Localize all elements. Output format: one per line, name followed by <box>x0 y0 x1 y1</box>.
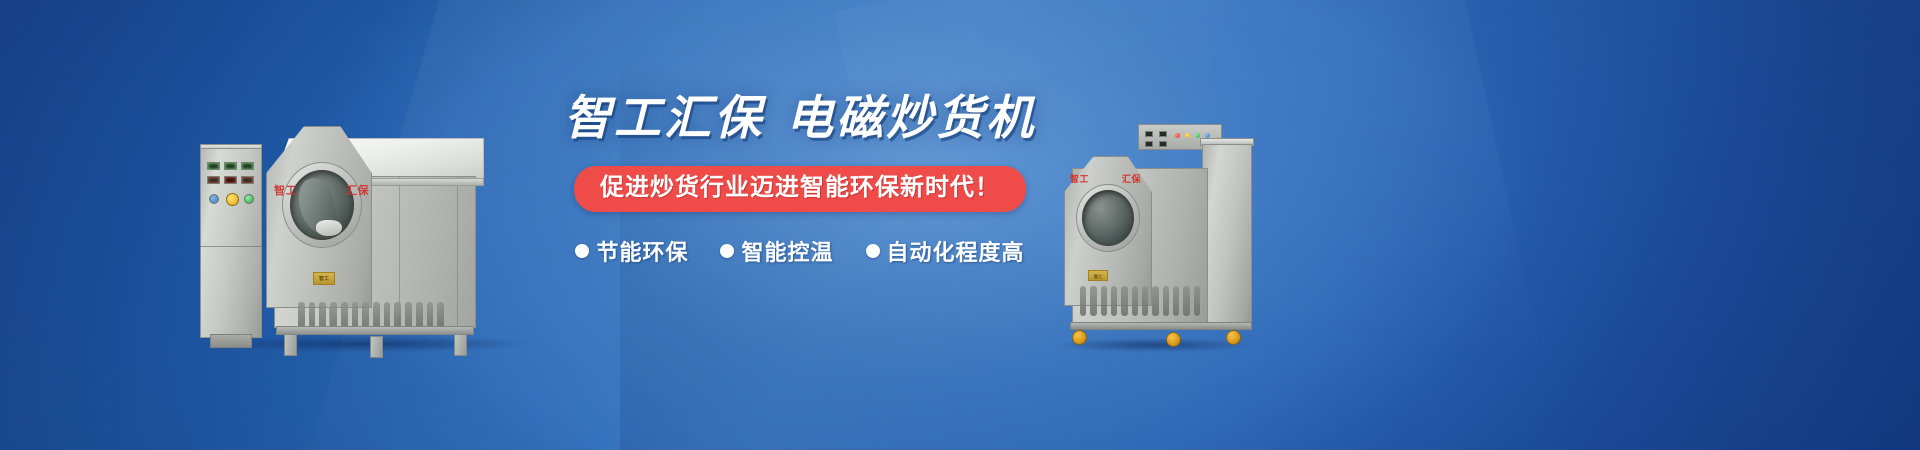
drum-scoop <box>316 220 342 236</box>
machine-right-caster-3 <box>1226 330 1241 345</box>
panel-meter-1 <box>207 162 220 170</box>
machine-right-nameplate: 智工 <box>1088 270 1108 281</box>
feature-list: 节能环保 智能控温 自动化程度高 <box>560 235 1040 267</box>
machine-left-vent-grille <box>298 302 444 328</box>
feature-label-2: 智能控温 <box>741 235 833 267</box>
machine-left-illustration: 许昌智工 智工 汇保 智工 <box>186 104 546 354</box>
right-panel-display-1 <box>1145 131 1153 137</box>
machine-left-cabinet-door-seam <box>200 246 262 247</box>
headline-product: 电磁炒货机 <box>786 91 1036 144</box>
feature-item-2: 智能控温 <box>720 235 833 267</box>
machine-left-control-panel <box>206 162 256 214</box>
promo-banner: 许昌智工 智工 汇保 智工 <box>0 0 1920 450</box>
headline-brand: 智工汇保 <box>564 91 764 144</box>
feature-item-1: 节能环保 <box>575 235 688 267</box>
body-seam-3 <box>457 177 458 327</box>
bullet-dot-icon <box>866 244 880 258</box>
slogan-text: 促进炒货行业迈进智能环保新时代！ <box>600 173 1000 203</box>
machine-right-caster-2 <box>1166 332 1181 347</box>
machine-right-cabinet <box>1202 144 1252 328</box>
machine-right-brand-right: 汇保 <box>1122 172 1141 185</box>
banner-headline: 智工汇保电磁炒货机 <box>560 92 1040 145</box>
machine-left-leg-3 <box>454 334 467 356</box>
machine-left-leg-1 <box>284 334 297 356</box>
machine-left-brand-right: 汇保 <box>346 182 369 198</box>
right-panel-indicator-yellow[interactable] <box>1185 133 1190 138</box>
panel-button-start[interactable] <box>244 194 254 204</box>
machine-left-nameplate: 智工 <box>313 272 335 285</box>
panel-meter-2 <box>224 162 237 170</box>
right-panel-indicator-red[interactable] <box>1175 133 1180 138</box>
machine-right-vent-grille <box>1080 286 1200 316</box>
right-panel-switch-2[interactable] <box>1159 141 1167 147</box>
panel-display-1 <box>207 176 220 184</box>
right-panel-switch-1[interactable] <box>1145 141 1153 147</box>
feature-label-1: 节能环保 <box>596 235 688 267</box>
banner-text-block: 智工汇保电磁炒货机 促进炒货行业迈进智能环保新时代！ 节能环保 智能控温 自动化… <box>560 92 1040 267</box>
slogan-pill: 促进炒货行业迈进智能环保新时代！ <box>574 166 1026 212</box>
feature-item-3: 自动化程度高 <box>866 235 1025 267</box>
panel-meter-3 <box>241 162 254 170</box>
machine-right-base-rail <box>1070 322 1252 330</box>
bullet-dot-icon <box>575 244 589 258</box>
panel-display-2 <box>224 176 237 184</box>
panel-button-power[interactable] <box>209 194 219 204</box>
machine-right-drum-opening <box>1082 190 1134 246</box>
bullet-dot-icon <box>720 244 734 258</box>
panel-display-3 <box>241 176 254 184</box>
machine-left-brand-left: 智工 <box>274 182 297 198</box>
machine-left-cabinet-base <box>210 334 252 348</box>
panel-knob-selector[interactable] <box>226 193 239 206</box>
machine-left-ground-shadow <box>204 336 534 352</box>
right-panel-display-2 <box>1159 131 1167 137</box>
machine-right-illustration: 智工 汇保 智工 <box>1050 100 1260 355</box>
machine-left-base-rail <box>276 326 474 335</box>
machine-left-leg-2 <box>370 336 383 358</box>
machine-right-brand-left: 智工 <box>1070 172 1089 185</box>
machine-left-drum-opening <box>290 170 354 240</box>
feature-label-3: 自动化程度高 <box>887 235 1025 267</box>
machine-right-caster-1 <box>1072 330 1087 345</box>
